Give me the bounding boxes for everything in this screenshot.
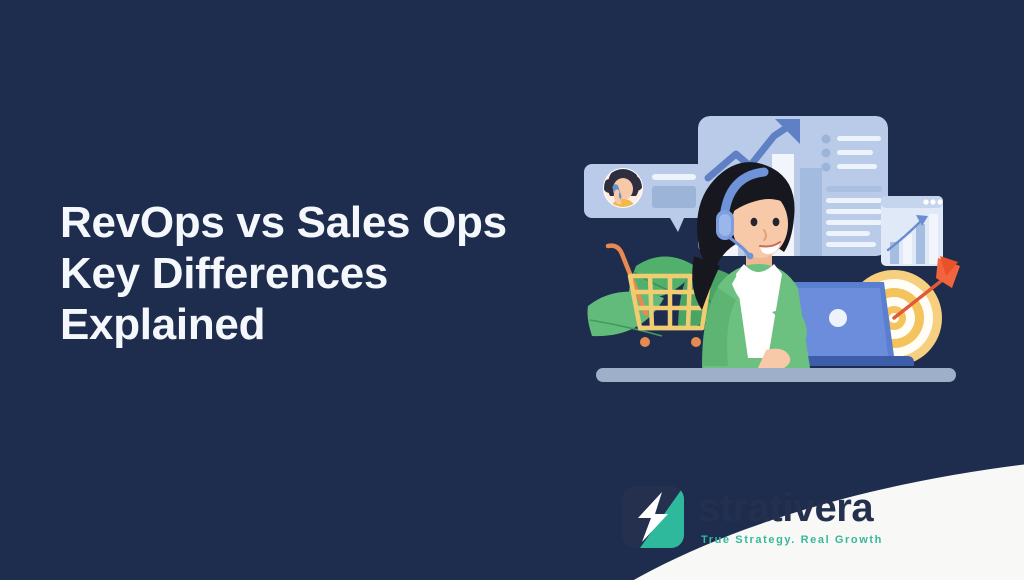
logo-wordmark: strativera <box>698 488 873 528</box>
chat-bubble <box>584 164 704 232</box>
hero-banner: RevOps vs Sales Ops Key Differences Expl… <box>0 0 1024 580</box>
desk-bar <box>596 368 956 382</box>
cart-wheel-right <box>691 337 701 347</box>
brand-logo[interactable]: strativera True Strategy. Real Growth <box>622 486 883 548</box>
page-title-line-2: Key Differences <box>60 248 580 299</box>
lightning-bolt-icon <box>622 486 684 548</box>
page-title: RevOps vs Sales Ops Key Differences Expl… <box>60 197 580 350</box>
browser-window <box>881 196 943 266</box>
hero-illustration <box>578 106 974 396</box>
logo-tagline: True Strategy. Real Growth <box>701 533 883 547</box>
logo-text-lockup: strativera True Strategy. Real Growth <box>698 488 883 547</box>
agent-person <box>692 162 810 371</box>
page-title-line-3: Explained <box>60 299 580 350</box>
cart-wheel-left <box>640 337 650 347</box>
page-title-line-1: RevOps vs Sales Ops <box>60 197 580 248</box>
